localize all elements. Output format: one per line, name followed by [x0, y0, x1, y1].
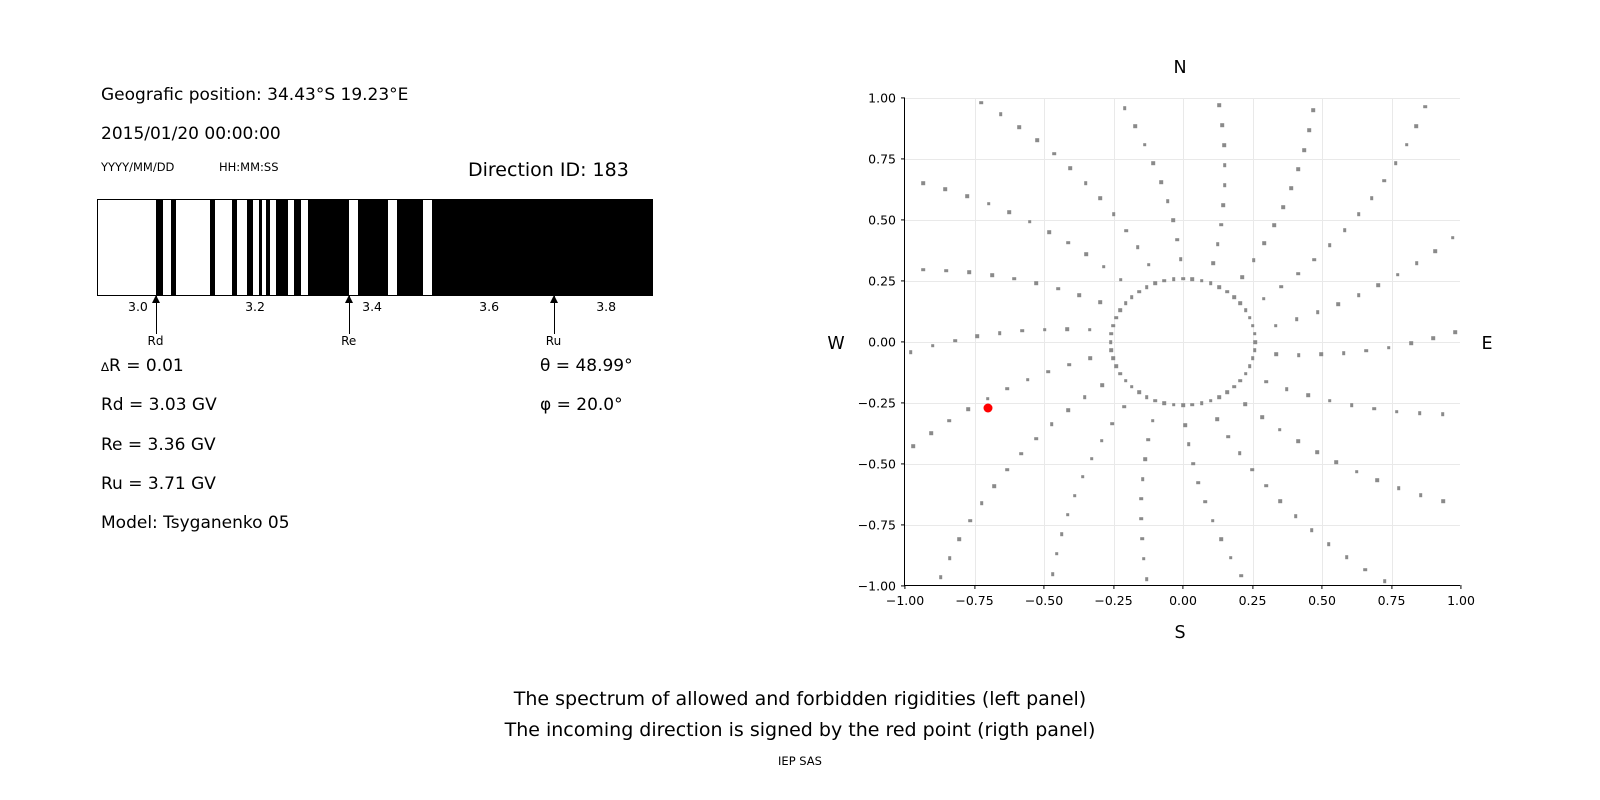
compass-west-label: W: [827, 334, 844, 354]
direction-point: [1147, 263, 1151, 267]
y-tick-label: −0.25: [858, 396, 896, 411]
direction-point: [1264, 380, 1268, 384]
direction-point: [1415, 262, 1419, 266]
geographic-position-label: Geografic position: 34.43°S 19.23°E: [101, 85, 408, 105]
forbidden-band: [294, 199, 301, 296]
direction-point: [965, 194, 969, 198]
direction-id-label: Direction ID: 183: [468, 159, 629, 181]
direction-point: [1306, 393, 1310, 397]
direction-point: [1046, 370, 1050, 374]
direction-point: [1264, 484, 1268, 488]
direction-point: [1110, 348, 1114, 352]
x-tick-mark: [974, 585, 975, 589]
direction-point: [1066, 241, 1070, 245]
direction-point: [1225, 391, 1229, 395]
direction-point: [1073, 494, 1077, 498]
direction-point: [1296, 439, 1300, 443]
direction-point: [1159, 180, 1163, 184]
direction-point: [1328, 399, 1332, 403]
forbidden-band-group: [97, 199, 653, 296]
caption-line-2: The incoming direction is signed by the …: [0, 715, 1600, 746]
direction-point: [1020, 452, 1024, 456]
direction-point: [1453, 330, 1457, 334]
direction-point: [1012, 277, 1016, 281]
direction-point: [1244, 308, 1248, 312]
direction-point: [1209, 282, 1213, 286]
direction-point: [968, 519, 972, 523]
direction-point: [1181, 404, 1185, 408]
direction-point: [1263, 241, 1267, 245]
direction-point: [1275, 353, 1279, 357]
direction-point: [1084, 181, 1088, 185]
direction-point: [1315, 450, 1319, 454]
direction-point: [1222, 203, 1226, 207]
y-tick-label: −0.75: [858, 518, 896, 533]
direction-point: [1319, 353, 1323, 357]
x-tick-label: −0.50: [1025, 593, 1063, 608]
x-tick-label: −1.00: [886, 593, 924, 608]
date-format-hint: YYYY/MM/DD: [101, 160, 174, 174]
y-tick-mark: [901, 97, 905, 98]
direction-point: [1418, 412, 1422, 416]
direction-point: [1253, 332, 1257, 336]
direction-point: [1154, 282, 1158, 286]
direction-point: [1297, 353, 1301, 357]
direction-point: [1035, 138, 1039, 142]
direction-point: [1316, 310, 1320, 314]
direction-point: [1223, 183, 1227, 187]
datetime-label: 2015/01/20 00:00:00: [101, 124, 281, 144]
direction-point: [958, 537, 962, 541]
direction-point: [1114, 364, 1118, 368]
y-tick-mark: [901, 158, 905, 159]
direction-point: [1405, 143, 1409, 147]
direction-point: [1145, 285, 1149, 289]
direction-point: [1211, 262, 1215, 266]
direction-point: [1217, 395, 1221, 399]
x-tick-label: 0.50: [1308, 593, 1336, 608]
direction-point: [1431, 336, 1435, 340]
rigidity-spectrum-panel: Geografic position: 34.43°S 19.23°E 2015…: [0, 0, 800, 660]
direction-point: [1122, 405, 1126, 409]
direction-point: [1364, 568, 1368, 572]
y-tick-mark: [901, 280, 905, 281]
spectrum-x-tick-label: 3.0: [128, 299, 148, 314]
compass-south-label: S: [1174, 623, 1185, 643]
direction-plot-frame: −1.00−0.75−0.50−0.250.000.250.500.751.00…: [904, 98, 1460, 586]
direction-point: [1296, 168, 1300, 172]
param-re: Re = 3.36 GV: [101, 435, 216, 455]
direction-point: [1136, 246, 1140, 250]
param-phi: φ = 20.0°: [540, 395, 623, 415]
direction-point: [1147, 438, 1151, 442]
direction-point: [1124, 229, 1128, 233]
direction-point: [1232, 295, 1236, 299]
forbidden-band: [308, 199, 349, 296]
direction-point: [1081, 475, 1085, 479]
y-tick-label: 0.00: [868, 335, 896, 350]
direction-point: [1302, 148, 1306, 152]
x-tick-mark: [1113, 585, 1114, 589]
direction-point: [1172, 403, 1176, 407]
direction-point: [1253, 348, 1257, 352]
direction-point: [1239, 302, 1243, 306]
direction-point: [1244, 372, 1248, 376]
direction-point: [1052, 152, 1056, 156]
marker-label: Re: [341, 334, 356, 348]
y-tick-label: 0.50: [868, 213, 896, 228]
direction-point: [1279, 285, 1283, 289]
direction-point: [1140, 497, 1144, 501]
direction-point: [1065, 327, 1069, 331]
direction-map-panel: −1.00−0.75−0.50−0.250.000.250.500.751.00…: [800, 0, 1600, 660]
direction-point: [1240, 574, 1244, 578]
direction-point: [1069, 166, 1073, 170]
direction-point: [1312, 108, 1316, 112]
direction-point: [1137, 290, 1141, 294]
direction-point: [1130, 385, 1134, 389]
direction-scatter-layer: [905, 98, 1460, 585]
direction-point: [931, 344, 935, 348]
direction-point: [1451, 236, 1455, 240]
y-tick-label: 0.75: [868, 152, 896, 167]
direction-point: [1357, 213, 1361, 217]
direction-point: [1008, 211, 1012, 215]
direction-point: [1219, 223, 1223, 227]
direction-point: [922, 268, 926, 272]
time-format-hint: HH:MM:SS: [219, 160, 279, 174]
direction-point: [1152, 162, 1156, 166]
direction-point: [1216, 417, 1220, 421]
highlight-red-point: [984, 403, 993, 412]
direction-point: [1101, 383, 1105, 387]
direction-point: [1274, 324, 1278, 328]
direction-point: [1308, 128, 1312, 132]
direction-point: [1090, 457, 1094, 461]
direction-point: [1006, 387, 1010, 391]
direction-point: [1226, 435, 1230, 439]
forbidden-band: [397, 199, 423, 296]
direction-point: [1244, 402, 1248, 406]
direction-point: [1211, 519, 1215, 523]
direction-point: [1112, 212, 1116, 216]
param-theta: θ = 48.99°: [540, 356, 633, 376]
direction-point: [1111, 357, 1115, 361]
direction-point: [1088, 328, 1092, 332]
direction-point: [1251, 324, 1255, 328]
param-delta-r: ∆R = 0.01: [101, 356, 184, 376]
direction-point: [1273, 224, 1277, 228]
direction-point: [1238, 452, 1242, 456]
direction-point: [1345, 555, 1349, 559]
direction-point: [1289, 187, 1293, 191]
direction-point: [1028, 220, 1032, 224]
direction-point: [990, 273, 994, 277]
direction-point: [1089, 357, 1093, 361]
direction-point: [1034, 282, 1038, 286]
compass-east-label: E: [1481, 334, 1492, 354]
direction-point: [1143, 458, 1147, 462]
direction-point: [1220, 123, 1224, 127]
x-tick-label: −0.75: [955, 593, 993, 608]
direction-point: [1111, 324, 1115, 328]
direction-point: [1151, 419, 1155, 423]
direction-point: [1216, 242, 1220, 246]
direction-point: [979, 101, 983, 105]
direction-point: [1296, 272, 1300, 276]
direction-point: [1084, 253, 1088, 257]
figure-caption: The spectrum of allowed and forbidden ri…: [0, 684, 1600, 746]
x-tick-label: 1.00: [1447, 593, 1475, 608]
direction-point: [1066, 513, 1070, 517]
direction-point: [1312, 258, 1316, 262]
forbidden-band: [358, 199, 388, 296]
direction-point: [1050, 422, 1054, 426]
direction-point: [1251, 468, 1255, 472]
forbidden-band: [156, 199, 164, 296]
direction-point: [1100, 439, 1104, 443]
direction-point: [1335, 460, 1339, 464]
x-tick-mark: [1460, 585, 1461, 589]
direction-point: [1083, 396, 1087, 400]
direction-point: [1171, 219, 1175, 223]
direction-point: [1066, 409, 1070, 413]
direction-point: [1119, 278, 1123, 282]
direction-point: [1067, 363, 1071, 367]
direction-point: [968, 271, 972, 275]
direction-point: [909, 350, 913, 354]
direction-point: [1006, 468, 1010, 472]
forbidden-band: [266, 199, 270, 296]
marker-arrow-icon: [152, 295, 160, 303]
direction-point: [1310, 528, 1314, 532]
marker-arrow-icon: [345, 295, 353, 303]
direction-point: [986, 397, 990, 401]
direction-point: [1355, 470, 1359, 474]
direction-point: [1172, 277, 1176, 281]
direction-point: [1110, 332, 1114, 336]
direction-point: [1020, 329, 1024, 333]
x-tick-label: 0.00: [1169, 593, 1197, 608]
direction-point: [1098, 300, 1102, 304]
direction-point: [1111, 422, 1115, 426]
x-tick-mark: [1043, 585, 1044, 589]
spectrum-x-tick-label: 3.8: [596, 299, 616, 314]
direction-point: [921, 181, 925, 185]
direction-point: [1140, 537, 1144, 541]
direction-point: [1396, 273, 1400, 277]
direction-point: [1102, 265, 1106, 269]
y-tick-mark: [901, 341, 905, 342]
direction-point: [953, 339, 957, 343]
direction-point: [1181, 277, 1185, 281]
direction-point: [1217, 285, 1221, 289]
forbidden-band: [210, 199, 215, 296]
direction-point: [1200, 401, 1204, 405]
direction-point: [1248, 316, 1252, 320]
direction-point: [1145, 577, 1149, 581]
forbidden-band: [232, 199, 238, 296]
direction-point: [1441, 413, 1445, 417]
direction-point: [1109, 340, 1113, 344]
direction-point: [1056, 287, 1060, 291]
forbidden-band: [247, 199, 253, 296]
direction-point: [1415, 124, 1419, 128]
direction-point: [1139, 517, 1143, 521]
direction-point: [1397, 486, 1401, 490]
direction-point: [980, 501, 984, 505]
direction-point: [1222, 143, 1226, 147]
param-model: Model: Tsyganenko 05: [101, 513, 290, 533]
direction-point: [1281, 205, 1285, 209]
direction-point: [1279, 499, 1283, 503]
x-tick-label: −0.25: [1094, 593, 1132, 608]
direction-point: [1176, 238, 1180, 242]
forbidden-band: [276, 199, 288, 296]
y-tick-label: −0.50: [858, 457, 896, 472]
direction-point: [1203, 500, 1207, 504]
forbidden-band: [171, 199, 176, 296]
direction-point: [1209, 399, 1213, 403]
direction-point: [1191, 277, 1195, 281]
direction-point: [1162, 401, 1166, 405]
direction-point: [929, 431, 933, 435]
direction-point: [1183, 423, 1187, 427]
direction-point: [1342, 351, 1346, 355]
direction-point: [1441, 499, 1445, 503]
direction-point: [945, 269, 949, 273]
direction-point: [1141, 477, 1145, 481]
direction-point: [1350, 403, 1354, 407]
direction-point: [1142, 557, 1146, 561]
direction-point: [1191, 403, 1195, 407]
direction-point: [1191, 462, 1195, 466]
spectrum-x-tick-label: 3.4: [362, 299, 382, 314]
direction-point: [1295, 318, 1299, 322]
direction-point: [987, 202, 991, 206]
forbidden-band: [259, 199, 263, 296]
direction-point: [1394, 161, 1398, 165]
direction-point: [1133, 125, 1137, 129]
direction-point: [1424, 105, 1428, 109]
direction-point: [1383, 579, 1387, 583]
direction-point: [1239, 379, 1243, 383]
direction-point: [998, 331, 1002, 335]
direction-point: [1294, 514, 1298, 518]
direction-point: [1017, 125, 1021, 129]
direction-point: [1409, 342, 1413, 346]
x-tick-mark: [1321, 585, 1322, 589]
direction-point: [1376, 478, 1380, 482]
y-tick-mark: [901, 463, 905, 464]
x-tick-label: 0.25: [1239, 593, 1267, 608]
y-tick-label: 1.00: [868, 91, 896, 106]
y-tick-label: 0.25: [868, 274, 896, 289]
direction-point: [999, 113, 1003, 117]
marker-label: Rd: [148, 334, 164, 348]
marker-arrow-icon: [550, 295, 558, 303]
x-tick-mark: [1182, 585, 1183, 589]
direction-point: [948, 556, 952, 560]
direction-point: [992, 484, 996, 488]
compass-north-label: N: [1173, 58, 1186, 78]
direction-point: [1433, 249, 1437, 253]
direction-point: [1123, 107, 1127, 111]
direction-point: [1200, 279, 1204, 283]
delta-glyph: ∆: [101, 360, 109, 374]
direction-point: [1034, 437, 1038, 441]
direction-point: [1327, 542, 1331, 546]
y-tick-label: −1.00: [858, 579, 896, 594]
direction-point: [1377, 284, 1381, 288]
direction-point: [1260, 415, 1264, 419]
direction-point: [1060, 532, 1064, 536]
direction-point: [1370, 196, 1374, 200]
direction-point: [1262, 297, 1266, 301]
direction-point: [948, 419, 952, 423]
direction-point: [1343, 228, 1347, 232]
direction-point: [966, 407, 970, 411]
direction-point: [1395, 410, 1399, 414]
direction-point: [1179, 257, 1183, 261]
param-rd: Rd = 3.03 GV: [101, 395, 217, 415]
direction-point: [1328, 244, 1332, 248]
direction-point: [944, 187, 948, 191]
direction-point: [1229, 556, 1233, 560]
y-tick-mark: [901, 524, 905, 525]
direction-point: [1130, 295, 1134, 299]
direction-point: [1026, 378, 1030, 382]
direction-point: [1251, 357, 1255, 361]
rigidity-spectrum-bar: [97, 199, 653, 296]
direction-point: [1382, 179, 1386, 183]
direction-point: [976, 335, 980, 339]
x-tick-mark: [1391, 585, 1392, 589]
direction-point: [1124, 302, 1128, 306]
direction-point: [1098, 197, 1102, 201]
direction-point: [911, 444, 915, 448]
y-tick-mark: [901, 402, 905, 403]
direction-point: [1219, 537, 1223, 541]
direction-point: [1145, 395, 1149, 399]
direction-point: [1166, 199, 1170, 203]
direction-point: [939, 575, 943, 579]
direction-point: [1364, 349, 1368, 353]
direction-point: [1047, 230, 1051, 234]
x-tick-mark: [1252, 585, 1253, 589]
marker-label: Ru: [546, 334, 561, 348]
direction-point: [1252, 259, 1256, 263]
direction-point: [1137, 391, 1141, 395]
x-tick-label: 0.75: [1378, 593, 1406, 608]
direction-point: [1357, 293, 1361, 297]
direction-point: [1043, 328, 1047, 332]
direction-point: [1187, 443, 1191, 447]
direction-point: [1119, 308, 1123, 312]
direction-point: [1240, 275, 1244, 279]
direction-point: [1248, 364, 1252, 368]
direction-point: [1119, 372, 1123, 376]
direction-point: [1419, 493, 1423, 497]
direction-point: [1253, 340, 1257, 344]
direction-point: [1372, 407, 1376, 411]
direction-point: [1162, 279, 1166, 283]
param-ru: Ru = 3.71 GV: [101, 474, 216, 494]
direction-point: [1337, 302, 1341, 306]
direction-point: [1124, 379, 1128, 383]
direction-point: [1197, 481, 1201, 485]
spectrum-x-tick-label: 3.6: [479, 299, 499, 314]
